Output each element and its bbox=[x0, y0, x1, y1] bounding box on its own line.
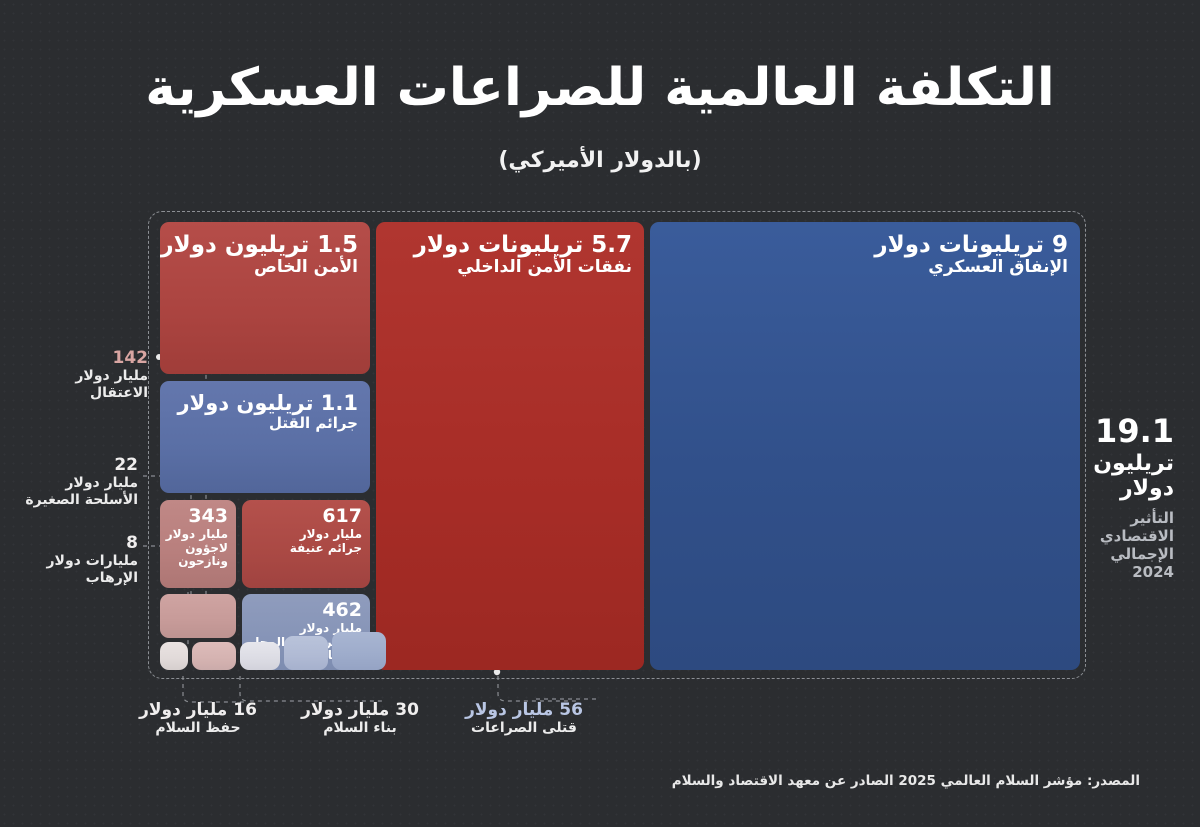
source-note: المصدر: مؤشر السلام العالمي 2025 الصادر … bbox=[672, 773, 1140, 789]
cell-amount-military: 9 تريليونات دولار bbox=[874, 232, 1068, 258]
infographic-canvas: التكلفة العالمية للصراعات العسكرية (بالد… bbox=[0, 0, 1200, 827]
cell-amount-violent-crime: 617 bbox=[290, 506, 362, 528]
cell-unit-refugees: مليار دولار bbox=[160, 528, 228, 542]
callout-number-peacebuilding: 30 مليار دولار bbox=[288, 700, 432, 720]
treemap-cell-refugees[interactable]: 343 مليار دولار لاجؤون ونازحون bbox=[160, 500, 236, 588]
total-description: التأثير الاقتصادي الإجمالي bbox=[1070, 509, 1174, 563]
callout-desc-terrorism: مليارات دولار الإرهاب bbox=[18, 553, 138, 587]
treemap-cell-terrorism[interactable] bbox=[160, 642, 188, 670]
cell-label-military: الإنفاق العسكري bbox=[874, 258, 1068, 278]
callout-terrorism: 8 مليارات دولار الإرهاب bbox=[18, 533, 138, 587]
callout-number-small-arms: 22 bbox=[18, 455, 138, 475]
treemap-cell-peacekeeping[interactable] bbox=[240, 642, 280, 670]
cell-label-violent-crime: جرائم عنيفة bbox=[290, 542, 362, 556]
treemap-cell-private-security[interactable]: 1.5 تريليون دولار الأمن الخاص bbox=[160, 222, 370, 374]
callout-desc-small-arms: مليار دولار الأسلحة الصغيرة bbox=[18, 475, 138, 509]
cell-label-private-security: الأمن الخاص bbox=[160, 258, 358, 278]
total-year: 2024 bbox=[1070, 563, 1174, 581]
total-unit: تريليون دولار bbox=[1070, 451, 1174, 502]
treemap-cell-conflict-deaths[interactable] bbox=[332, 632, 386, 670]
treemap-cell-small-arms[interactable] bbox=[192, 642, 236, 670]
callout-number-peacekeeping: 16 مليار دولار bbox=[126, 700, 270, 720]
callout-conflict-deaths: 56 مليار دولار قتلى الصراعات bbox=[444, 700, 604, 737]
cell-label-homicide: جرائم القتل bbox=[178, 415, 358, 432]
cell-amount-gdp-losses: 462 bbox=[242, 600, 362, 622]
cell-label-refugees: لاجؤون ونازحون bbox=[160, 542, 228, 570]
cell-unit-violent-crime: مليار دولار bbox=[290, 528, 362, 542]
callout-detention: 142 مليار دولار الاعتقال bbox=[18, 348, 148, 402]
callout-desc-peacekeeping: حفظ السلام bbox=[126, 720, 270, 737]
cell-label-internal-security: نفقات الأمن الداخلي bbox=[414, 258, 632, 278]
treemap-cell-homicide[interactable]: 1.1 تريليون دولار جرائم القتل bbox=[160, 381, 370, 493]
treemap: 9 تريليونات دولار الإنفاق العسكري 5.7 تر… bbox=[160, 222, 1080, 670]
total-value: 19.1 bbox=[1070, 415, 1174, 449]
page-subtitle: (بالدولار الأميركي) bbox=[0, 148, 1200, 173]
callout-desc-peacebuilding: بناء السلام bbox=[288, 720, 432, 737]
total-impact: 19.1 تريليون دولار التأثير الاقتصادي الإ… bbox=[1070, 415, 1174, 581]
cell-amount-internal-security: 5.7 تريليونات دولار bbox=[414, 232, 632, 258]
callout-peacebuilding: 30 مليار دولار بناء السلام bbox=[288, 700, 432, 737]
treemap-cell-military[interactable]: 9 تريليونات دولار الإنفاق العسكري bbox=[650, 222, 1080, 670]
callout-desc-detention: مليار دولار الاعتقال bbox=[18, 368, 148, 402]
cell-amount-homicide: 1.1 تريليون دولار bbox=[178, 391, 358, 415]
treemap-cell-peacebuilding[interactable] bbox=[284, 636, 328, 670]
callout-small-arms: 22 مليار دولار الأسلحة الصغيرة bbox=[18, 455, 138, 509]
page-title: التكلفة العالمية للصراعات العسكرية bbox=[0, 58, 1200, 118]
cell-amount-refugees: 343 bbox=[160, 506, 228, 528]
cell-amount-private-security: 1.5 تريليون دولار bbox=[160, 232, 358, 258]
callout-peacekeeping: 16 مليار دولار حفظ السلام bbox=[126, 700, 270, 737]
callout-number-conflict-deaths: 56 مليار دولار bbox=[444, 700, 604, 720]
callout-number-detention: 142 bbox=[18, 348, 148, 368]
callout-desc-conflict-deaths: قتلى الصراعات bbox=[444, 720, 604, 737]
treemap-cell-detention[interactable] bbox=[160, 594, 236, 638]
treemap-cell-internal-security[interactable]: 5.7 تريليونات دولار نفقات الأمن الداخلي bbox=[376, 222, 644, 670]
treemap-cell-violent-crime[interactable]: 617 مليار دولار جرائم عنيفة bbox=[242, 500, 370, 588]
callout-number-terrorism: 8 bbox=[18, 533, 138, 553]
